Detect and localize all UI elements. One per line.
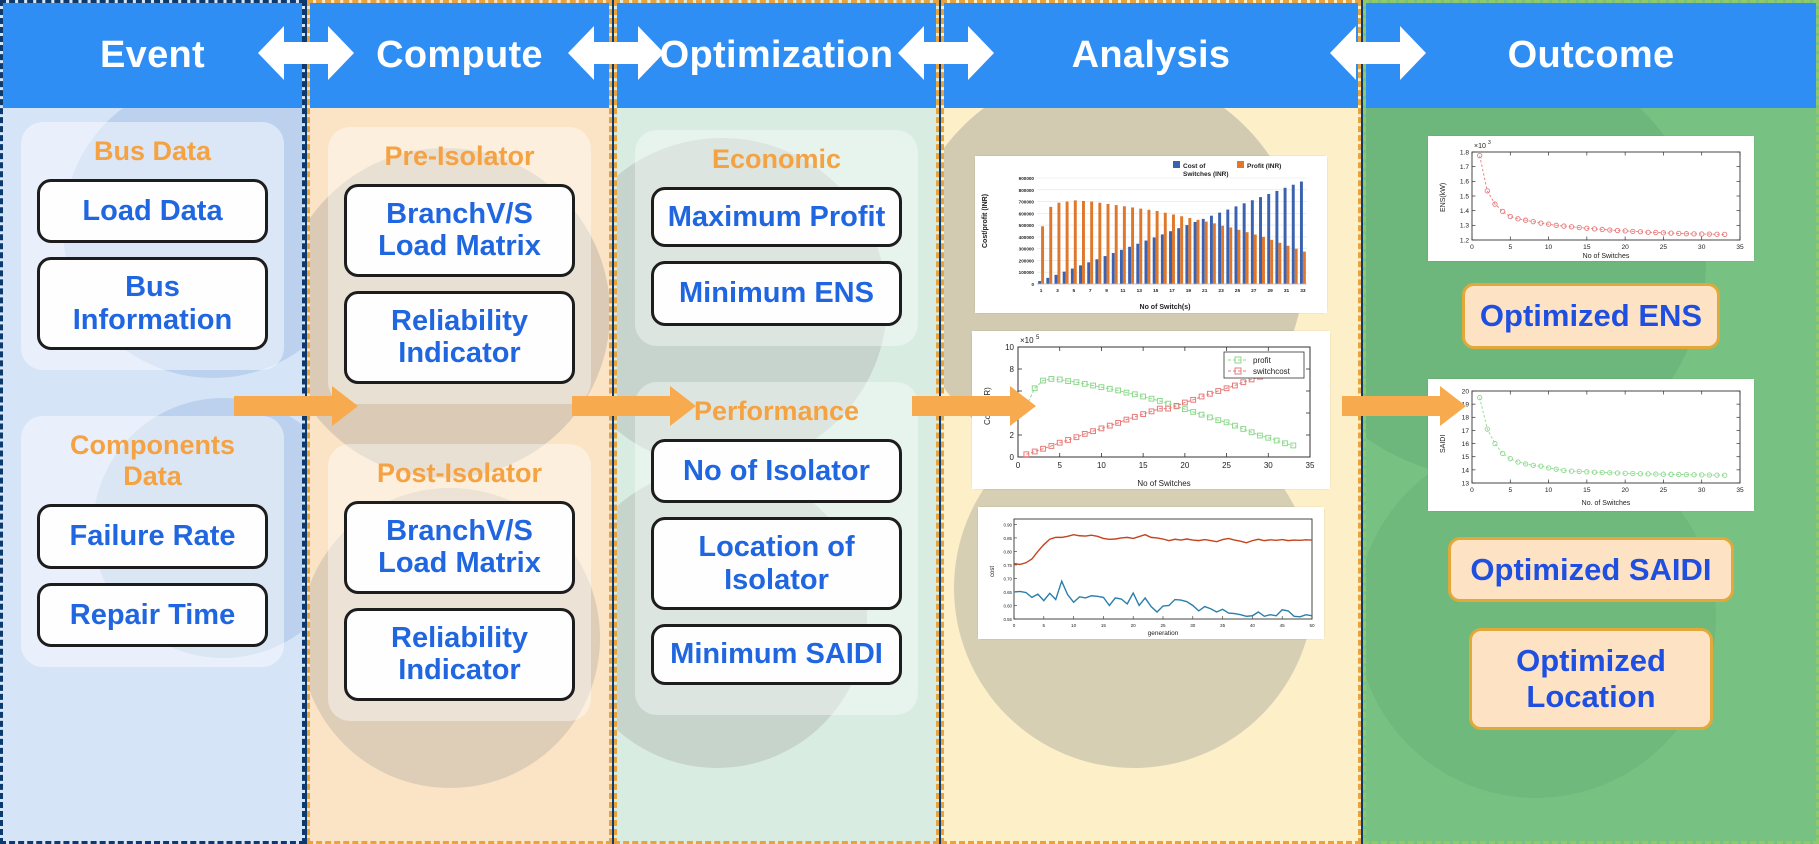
svg-text:Switches (INR): Switches (INR) (1183, 171, 1229, 178)
svg-text:15: 15 (1101, 623, 1107, 628)
svg-text:11: 11 (1120, 288, 1125, 294)
group-title: Pre-Isolator (344, 141, 575, 172)
svg-text:18: 18 (1462, 414, 1470, 421)
card-reliability-indicator-pre[interactable]: Reliability Indicator (344, 291, 575, 384)
svg-text:29: 29 (1268, 288, 1274, 294)
svg-text:5: 5 (1072, 288, 1075, 294)
pill-optimized-ens[interactable]: Optimized ENS (1462, 283, 1720, 349)
column-header-title: Analysis (1072, 34, 1231, 77)
svg-text:30: 30 (1190, 623, 1196, 628)
svg-text:100000: 100000 (1019, 270, 1035, 275)
svg-text:25: 25 (1660, 487, 1668, 494)
svg-text:No. of Switches: No. of Switches (1582, 500, 1631, 507)
svg-text:9: 9 (1105, 288, 1108, 294)
svg-text:50: 50 (1309, 623, 1315, 628)
svg-text:30: 30 (1698, 244, 1706, 251)
group-bus-data: Bus Data Load Data Bus Information (21, 122, 284, 370)
svg-text:Cost of: Cost of (1183, 163, 1206, 170)
svg-text:10: 10 (1005, 343, 1014, 352)
chart-svg: ×10 5 Cost (INR) 051015202530350246810 p… (972, 331, 1330, 489)
svg-text:15: 15 (1139, 461, 1148, 470)
column-body-event: Bus Data Load Data Bus Information Compo… (3, 108, 302, 841)
svg-text:0.55: 0.55 (1003, 617, 1012, 622)
svg-text:35: 35 (1736, 244, 1744, 251)
svg-text:45: 45 (1280, 623, 1286, 628)
svg-text:4: 4 (1010, 409, 1015, 418)
pipeline-diagram: Event Bus Data Load Data Bus Information… (0, 0, 1819, 844)
svg-text:35: 35 (1306, 461, 1315, 470)
svg-text:5: 5 (1057, 461, 1062, 470)
svg-text:1.6: 1.6 (1460, 179, 1469, 186)
svg-text:19: 19 (1186, 288, 1192, 294)
svg-text:16: 16 (1462, 441, 1470, 448)
header-double-arrow-2 (568, 24, 664, 82)
svg-text:14: 14 (1462, 467, 1470, 474)
svg-text:17: 17 (1462, 427, 1470, 434)
header-double-arrow-3 (898, 24, 994, 82)
svg-text:No of Switches: No of Switches (1137, 479, 1190, 488)
chart-ga-convergence: cost 051015202530354045500.550.600.650.7… (978, 507, 1324, 639)
column-body-optimization: Economic Maximum Profit Minimum ENS Perf… (617, 108, 936, 841)
svg-text:Profit (INR): Profit (INR) (1247, 163, 1281, 170)
chart-svg: cost 051015202530354045500.550.600.650.7… (978, 507, 1324, 639)
svg-text:1.7: 1.7 (1460, 164, 1469, 171)
svg-text:15: 15 (1583, 487, 1591, 494)
svg-text:2: 2 (1010, 431, 1015, 440)
chart-ens-vs-switches: ×10 3 ENS(kW) 051015202530351.21.31.41.5… (1428, 136, 1754, 261)
group-title: Components Data (37, 430, 268, 492)
svg-text:0.75: 0.75 (1003, 563, 1012, 568)
column-header-analysis: Analysis (944, 3, 1358, 108)
svg-text:25: 25 (1222, 461, 1231, 470)
svg-text:cost: cost (990, 566, 996, 577)
card-location-of-isolator[interactable]: Location of Isolator (651, 517, 902, 610)
header-double-arrow-1 (258, 24, 354, 82)
svg-text:1.5: 1.5 (1460, 193, 1469, 200)
svg-text:1.2: 1.2 (1460, 237, 1469, 244)
svg-text:900000: 900000 (1019, 176, 1035, 181)
svg-text:profit: profit (1253, 356, 1272, 365)
svg-text:0: 0 (1470, 244, 1474, 251)
column-header-title: Event (100, 34, 205, 77)
svg-text:13: 13 (1137, 288, 1143, 294)
card-minimum-saidi[interactable]: Minimum SAIDI (651, 624, 902, 684)
svg-text:10: 10 (1097, 461, 1106, 470)
svg-text:0: 0 (1470, 487, 1474, 494)
svg-text:0.60: 0.60 (1003, 603, 1012, 608)
svg-text:6: 6 (1010, 387, 1015, 396)
svg-text:0.65: 0.65 (1003, 590, 1012, 595)
svg-text:5: 5 (1508, 487, 1512, 494)
svg-text:7: 7 (1089, 288, 1092, 294)
svg-text:23: 23 (1218, 288, 1224, 294)
card-bus-information[interactable]: Bus Information (37, 257, 268, 350)
card-branch-load-matrix-pre[interactable]: BranchV/S Load Matrix (344, 184, 575, 277)
svg-text:5: 5 (1043, 623, 1046, 628)
chart-svg: ×10 3 ENS(kW) 051015202530351.21.31.41.5… (1428, 136, 1754, 261)
svg-text:10: 10 (1545, 244, 1553, 251)
svg-text:8: 8 (1010, 365, 1015, 374)
svg-text:×10: ×10 (1474, 143, 1486, 150)
svg-text:800000: 800000 (1019, 188, 1035, 193)
card-no-of-isolator[interactable]: No of Isolator (651, 439, 902, 503)
svg-text:15: 15 (1153, 288, 1159, 294)
svg-text:0: 0 (1013, 623, 1016, 628)
svg-text:20: 20 (1131, 623, 1137, 628)
svg-text:25: 25 (1660, 244, 1668, 251)
card-repair-time[interactable]: Repair Time (37, 583, 268, 647)
column-header-title: Compute (376, 34, 543, 77)
svg-text:10: 10 (1545, 487, 1553, 494)
svg-text:No of Switch(s): No of Switch(s) (1140, 304, 1191, 311)
chart-profit-switchcost: ×10 5 Cost (INR) 051015202530350246810 p… (972, 331, 1330, 489)
chart-cost-profit-bar: Cost of Switches (INR) Profit (INR) Cost… (975, 156, 1327, 313)
svg-text:15: 15 (1462, 454, 1470, 461)
svg-text:19: 19 (1462, 401, 1470, 408)
pill-optimized-location[interactable]: Optimized Location (1469, 628, 1713, 729)
svg-text:20: 20 (1621, 487, 1629, 494)
chart-saidi-vs-switches: SAIDI 051015202530351314151617181920 No.… (1428, 379, 1754, 511)
svg-text:30: 30 (1264, 461, 1273, 470)
column-outcome: Outcome ×10 3 ENS(kW) 051015202530351.21… (1363, 0, 1819, 844)
svg-text:3: 3 (1488, 140, 1491, 146)
column-header-optimization: Optimization (617, 3, 936, 108)
svg-text:generation: generation (1148, 630, 1179, 637)
svg-text:600000: 600000 (1019, 211, 1035, 216)
svg-text:500000: 500000 (1019, 223, 1035, 228)
card-failure-rate[interactable]: Failure Rate (37, 504, 268, 568)
group-components-data: Components Data Failure Rate Repair Time (21, 416, 284, 667)
card-reliability-indicator-post[interactable]: Reliability Indicator (344, 608, 575, 701)
svg-text:0: 0 (1031, 282, 1034, 287)
group-performance: Performance No of Isolator Location of I… (635, 382, 918, 715)
svg-text:27: 27 (1251, 288, 1257, 294)
svg-text:1.8: 1.8 (1460, 149, 1469, 156)
svg-text:20: 20 (1462, 388, 1470, 395)
svg-text:31: 31 (1284, 288, 1290, 294)
svg-text:13: 13 (1462, 480, 1470, 487)
svg-text:5: 5 (1508, 244, 1512, 251)
column-body-compute: Pre-Isolator BranchV/S Load Matrix Relia… (310, 108, 609, 841)
column-compute: Compute Pre-Isolator BranchV/S Load Matr… (307, 0, 612, 844)
card-minimum-ens[interactable]: Minimum ENS (651, 261, 902, 325)
svg-text:25: 25 (1160, 623, 1166, 628)
svg-text:Cost/profit (INR): Cost/profit (INR) (982, 194, 989, 248)
pill-optimized-saidi[interactable]: Optimized SAIDI (1448, 537, 1734, 603)
svg-text:3: 3 (1056, 288, 1059, 294)
svg-text:15: 15 (1583, 244, 1591, 251)
svg-text:1.4: 1.4 (1460, 208, 1469, 215)
svg-text:1.3: 1.3 (1460, 223, 1469, 230)
svg-text:17: 17 (1169, 288, 1175, 294)
group-title: Economic (651, 144, 902, 175)
group-title: Bus Data (37, 136, 268, 167)
svg-text:700000: 700000 (1019, 200, 1035, 205)
svg-text:0: 0 (1016, 461, 1021, 470)
card-branch-load-matrix-post[interactable]: BranchV/S Load Matrix (344, 501, 575, 594)
svg-text:1: 1 (1040, 288, 1043, 294)
chart-svg: Cost of Switches (INR) Profit (INR) Cost… (975, 156, 1327, 313)
svg-text:200000: 200000 (1019, 258, 1035, 263)
svg-text:No of Switches: No of Switches (1583, 253, 1630, 260)
card-load-data[interactable]: Load Data (37, 179, 268, 243)
svg-text:400000: 400000 (1019, 235, 1035, 240)
chart-svg: SAIDI 051015202530351314151617181920 No.… (1428, 379, 1754, 511)
svg-text:SAIDI: SAIDI (1440, 434, 1447, 452)
group-title: Performance (651, 396, 902, 427)
svg-text:20: 20 (1180, 461, 1189, 470)
svg-text:40: 40 (1250, 623, 1256, 628)
group-title: Post-Isolator (344, 458, 575, 489)
group-economic: Economic Maximum Profit Minimum ENS (635, 130, 918, 346)
svg-text:0: 0 (1010, 453, 1015, 462)
svg-text:×10: ×10 (1020, 336, 1034, 345)
svg-text:0.85: 0.85 (1003, 536, 1012, 541)
column-analysis: Analysis Cost of Switches (INR) Profit (… (941, 0, 1361, 844)
column-header-outcome: Outcome (1366, 3, 1816, 108)
svg-text:switchcost: switchcost (1253, 367, 1291, 376)
column-body-analysis: Cost of Switches (INR) Profit (INR) Cost… (944, 108, 1358, 841)
svg-text:25: 25 (1235, 288, 1241, 294)
svg-text:0.90: 0.90 (1003, 522, 1012, 527)
header-double-arrow-4 (1330, 24, 1426, 82)
svg-text:0.80: 0.80 (1003, 549, 1012, 554)
svg-text:20: 20 (1621, 244, 1629, 251)
svg-text:30: 30 (1698, 487, 1706, 494)
column-body-outcome: ×10 3 ENS(kW) 051015202530351.21.31.41.5… (1366, 108, 1816, 841)
card-maximum-profit[interactable]: Maximum Profit (651, 187, 902, 247)
svg-text:10: 10 (1071, 623, 1077, 628)
svg-text:300000: 300000 (1019, 247, 1035, 252)
svg-text:33: 33 (1300, 288, 1306, 294)
svg-text:35: 35 (1220, 623, 1226, 628)
column-optimization: Optimization Economic Maximum Profit Min… (614, 0, 939, 844)
column-event: Event Bus Data Load Data Bus Information… (0, 0, 305, 844)
group-pre-isolator: Pre-Isolator BranchV/S Load Matrix Relia… (328, 127, 591, 404)
svg-text:0.70: 0.70 (1003, 576, 1012, 581)
svg-text:Cost (INR): Cost (INR) (983, 387, 992, 425)
column-header-compute: Compute (310, 3, 609, 108)
svg-text:21: 21 (1202, 288, 1208, 294)
svg-text:35: 35 (1736, 487, 1744, 494)
svg-text:ENS(kW): ENS(kW) (1440, 183, 1447, 212)
group-post-isolator: Post-Isolator BranchV/S Load Matrix Reli… (328, 444, 591, 721)
column-header-title: Outcome (1508, 34, 1675, 77)
column-header-title: Optimization (660, 34, 894, 77)
